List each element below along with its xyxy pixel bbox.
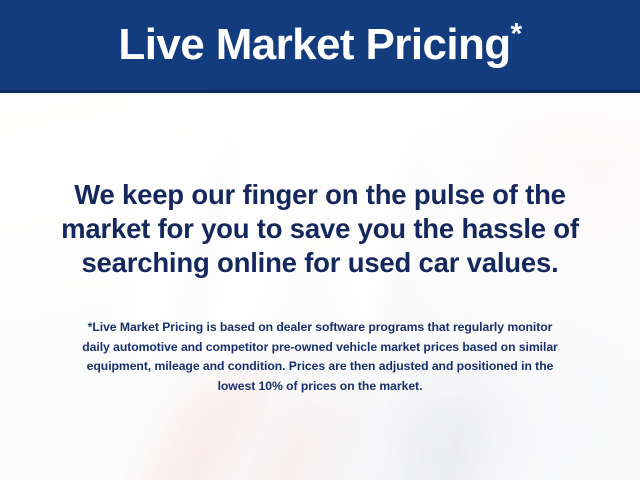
banner-bottom-rule: [0, 90, 640, 93]
headline-line-2: market for you to save you the hassle of: [18, 212, 622, 246]
live-market-pricing-slide: Live Market Pricing* We keep our finger …: [0, 0, 640, 480]
headline-block: We keep our finger on the pulse of the m…: [0, 178, 640, 280]
disclaimer-line-4: lowest 10% of prices on the market.: [24, 377, 616, 397]
disclaimer-line-1: *Live Market Pricing is based on dealer …: [24, 318, 616, 338]
disclaimer-line-3: equipment, mileage and condition. Prices…: [24, 357, 616, 377]
headline-line-1: We keep our finger on the pulse of the: [18, 178, 622, 212]
banner-title: Live Market Pricing*: [118, 23, 521, 67]
disclaimer-line-2: daily automotive and competitor pre-owne…: [24, 338, 616, 358]
header-banner: Live Market Pricing*: [0, 0, 640, 93]
banner-footnote-marker: *: [511, 17, 522, 50]
banner-title-text: Live Market Pricing: [118, 20, 510, 69]
disclaimer-block: *Live Market Pricing is based on dealer …: [0, 318, 640, 396]
headline-line-3: searching online for used car values.: [18, 246, 622, 280]
